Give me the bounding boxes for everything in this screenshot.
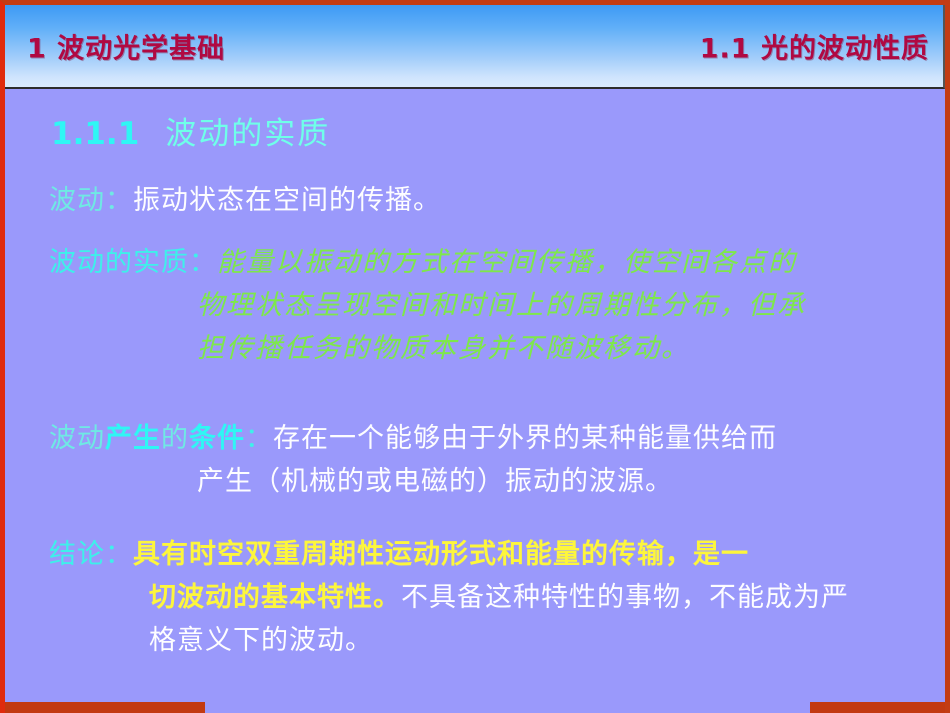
text-shizhi-2: 物理状态呈现空间和时间上的周期性分布，但承 xyxy=(197,290,806,321)
slide-header: 1 波动光学基础 1.1 光的波动性质 xyxy=(5,5,945,89)
label-bodong: 波动： xyxy=(49,185,133,216)
header-section-title: 1.1 光的波动性质 xyxy=(700,27,929,66)
text-jielun-2a: 切 xyxy=(149,582,177,613)
paragraph-shizhi-line-3: 担传播任务的物质本身并不随波移动。 xyxy=(49,335,921,362)
label-tiaojian-part1: 波动 xyxy=(49,423,105,454)
text-tiaojian-1: 存在一个能够由于外界的某种能量供给而 xyxy=(273,423,777,454)
slide-canvas: 1 波动光学基础 1.1 光的波动性质 1.1.1波动的实质 波动：振动状态在空… xyxy=(0,0,950,713)
paragraph-bodong-line: 波动：振动状态在空间的传播。 xyxy=(49,187,921,214)
text-shizhi-3: 担传播任务的物质本身并不随波移动。 xyxy=(197,333,690,364)
paragraph-shizhi: 波动的实质：能量以振动的方式在空间传播，使空间各点的 物理状态呈现空间和时间上的… xyxy=(49,249,921,362)
paragraph-tiaojian: 波动产生的条件：存在一个能够由于外界的某种能量供给而 产生（机械的或电磁的）振动… xyxy=(49,425,921,495)
label-shizhi: 波动的实质： xyxy=(49,247,217,278)
text-shizhi-1: 能量以振动的方式在空间传播，使空间各点的 xyxy=(217,247,797,278)
header-chapter-title: 1 波动光学基础 xyxy=(27,27,225,66)
paragraph-shizhi-line-1: 波动的实质：能量以振动的方式在空间传播，使空间各点的 xyxy=(49,249,921,276)
text-jielun-2b: 波动的基本特性。 xyxy=(177,582,401,613)
paragraph-bodong: 波动：振动状态在空间的传播。 xyxy=(49,187,921,214)
paragraph-jielun: 结论：具有时空双重周期性运动形式和能量的传输，是一 切波动的基本特性。不具备这种… xyxy=(49,541,921,654)
text-jielun-2c: 不具备这种特性的事物，不能成为严 xyxy=(401,582,849,613)
paragraph-tiaojian-line-2: 产生（机械的或电磁的）振动的波源。 xyxy=(49,468,921,495)
slide-body: 1.1.1波动的实质 波动：振动状态在空间的传播。 波动的实质：能量以振动的方式… xyxy=(5,91,945,711)
paragraph-jielun-line-2: 切波动的基本特性。不具备这种特性的事物，不能成为严 xyxy=(49,584,921,611)
paragraph-jielun-line-3: 格意义下的波动。 xyxy=(49,627,921,654)
section-number: 1.1.1 xyxy=(51,116,139,152)
paragraph-shizhi-line-2: 物理状态呈现空间和时间上的周期性分布，但承 xyxy=(49,292,921,319)
text-jielun-1: 具有时空双重周期性运动形式和能量的传输，是一 xyxy=(133,539,749,570)
text-tiaojian-2: 产生（机械的或电磁的）振动的波源。 xyxy=(197,466,673,497)
text-bodong: 振动状态在空间的传播。 xyxy=(133,185,441,216)
text-jielun-3: 格意义下的波动。 xyxy=(149,625,373,656)
label-jielun: 结论： xyxy=(49,539,133,570)
label-tiaojian-part4: 条件 xyxy=(189,423,245,454)
section-heading: 1.1.1波动的实质 xyxy=(51,119,330,150)
paragraph-tiaojian-line-1: 波动产生的条件：存在一个能够由于外界的某种能量供给而 xyxy=(49,425,921,452)
section-title-text: 波动的实质 xyxy=(165,116,330,152)
label-tiaojian-part3: 的 xyxy=(161,423,189,454)
paragraph-jielun-line-1: 结论：具有时空双重周期性运动形式和能量的传输，是一 xyxy=(49,541,921,568)
label-tiaojian-part2: 产生 xyxy=(105,423,161,454)
label-tiaojian-part5: ： xyxy=(245,423,273,454)
